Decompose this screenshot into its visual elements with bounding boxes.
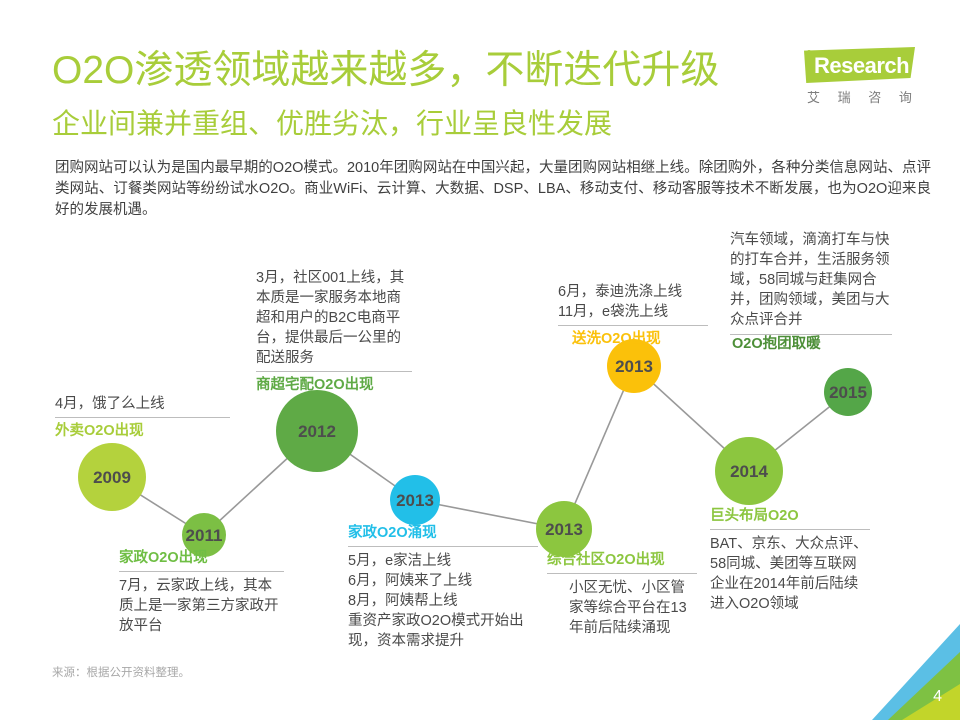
annotation-2013-community-head: 综合社区O2O出现 <box>547 550 697 571</box>
divider <box>547 573 697 574</box>
annotation-2013-laundry-head: 送洗O2O出现 <box>558 329 708 350</box>
page-number: 4 <box>933 688 942 706</box>
timeline-node-label: 2013 <box>615 357 653 376</box>
annotation-2011-head: 家政O2O出现 <box>119 548 284 569</box>
annotation-2015-head: O2O抱团取暖 <box>732 334 821 355</box>
annotation-2014: 巨头布局O2O BAT、京东、大众点评、58同城、美团等互联网企业在2014年前… <box>710 506 870 614</box>
divider <box>256 371 412 372</box>
annotation-2009-body: 4月，饿了么上线 <box>55 394 230 414</box>
timeline-node-label: 2012 <box>298 422 336 441</box>
annotation-2012: 3月，社区001上线，其本质是一家服务本地商超和用户的B2C电商平台，提供最后一… <box>256 268 412 396</box>
divider <box>55 417 230 418</box>
timeline-node-label: 2013 <box>545 520 583 539</box>
timeline-node-label: 2014 <box>730 462 768 481</box>
annotation-2013-community-body: 小区无忧、小区管家等综合平台在13年前后陆续涌现 <box>547 578 697 638</box>
divider <box>119 571 284 572</box>
corner-decoration <box>864 624 960 720</box>
annotation-2011: 家政O2O出现 7月，云家政上线，其本质上是一家第三方家政开放平台 <box>119 548 284 636</box>
divider <box>348 546 538 547</box>
slide-root: O2O渗透领域越来越多，不断迭代升级 企业间兼并重组、优胜劣汰，行业呈良性发展 … <box>0 0 960 720</box>
annotation-2012-head: 商超宅配O2O出现 <box>256 375 412 396</box>
annotation-2013-housekeeping: 家政O2O涌现 5月，e家洁上线 6月，阿姨来了上线 8月，阿姨帮上线 重资产家… <box>348 523 538 651</box>
timeline-node-label: 2009 <box>93 468 131 487</box>
annotation-2014-head: 巨头布局O2O <box>710 506 870 527</box>
annotation-2013-housekeeping-body: 5月，e家洁上线 6月，阿姨来了上线 8月，阿姨帮上线 重资产家政O2O模式开始… <box>348 551 538 651</box>
timeline-node-label: 2013 <box>396 491 434 510</box>
annotation-2015-body: 汽车领域，滴滴打车与快的打车合并，生活服务领域，58同城与赶集网合并，团购领域，… <box>730 230 892 330</box>
annotation-2012-body: 3月，社区001上线，其本质是一家服务本地商超和用户的B2C电商平台，提供最后一… <box>256 268 412 368</box>
annotation-2013-housekeeping-head: 家政O2O涌现 <box>348 523 538 544</box>
annotation-2014-body: BAT、京东、大众点评、58同城、美团等互联网企业在2014年前后陆续进入O2O… <box>710 534 870 614</box>
annotation-2009-head: 外卖O2O出现 <box>55 421 230 442</box>
annotation-2013-laundry-body: 6月，泰迪洗涤上线 11月，e袋洗上线 <box>558 282 708 322</box>
timeline-node-label: 2011 <box>186 526 223 545</box>
source-note: 来源：根据公开资料整理。 <box>52 664 190 680</box>
divider <box>558 325 708 326</box>
timeline-node-label: 2015 <box>829 383 867 402</box>
annotation-2011-body: 7月，云家政上线，其本质上是一家第三方家政开放平台 <box>119 576 284 636</box>
divider <box>710 529 870 530</box>
annotation-2013-laundry: 6月，泰迪洗涤上线 11月，e袋洗上线 送洗O2O出现 <box>558 282 708 350</box>
annotation-2013-community: 综合社区O2O出现 小区无忧、小区管家等综合平台在13年前后陆续涌现 <box>547 550 697 638</box>
annotation-2009: 4月，饿了么上线 外卖O2O出现 <box>55 394 230 442</box>
annotation-2015: 汽车领域，滴滴打车与快的打车合并，生活服务领域，58同城与赶集网合并，团购领域，… <box>730 230 892 338</box>
